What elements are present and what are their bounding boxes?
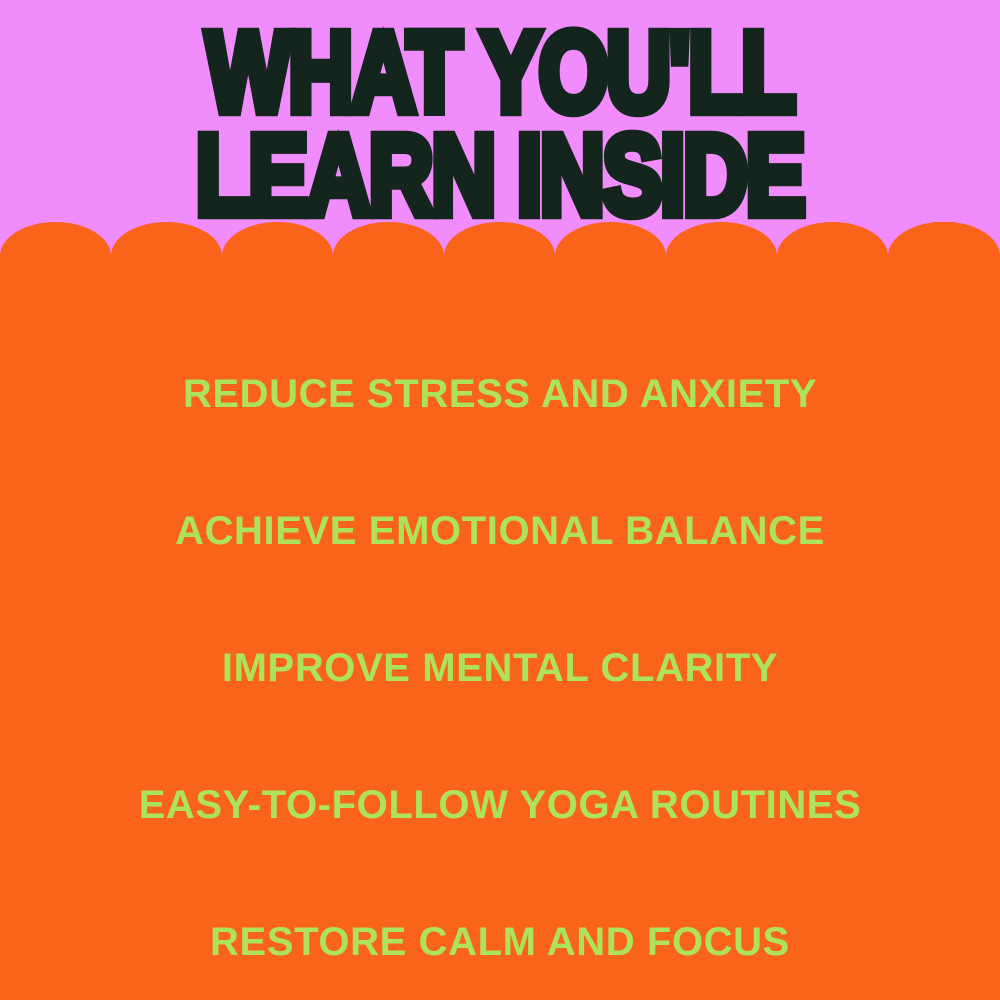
benefit-item-5: RESTORE CALM AND FOCUS xyxy=(0,874,1000,1000)
heading-line-2: LEARN INSIDE xyxy=(196,129,804,224)
benefit-item-4: EASY-TO-FOLLOW YOGA ROUTINES xyxy=(0,737,1000,874)
benefit-item-3: IMPROVE MENTAL CLARITY xyxy=(0,600,1000,737)
heading-line-1: WHAT YOU'LL xyxy=(206,26,794,121)
benefit-item-2: ACHIEVE EMOTIONAL BALANCE xyxy=(0,463,1000,600)
header-section: WHAT YOU'LL LEARN INSIDE xyxy=(0,0,1000,228)
poster-canvas: WHAT YOU'LL LEARN INSIDE REDUCE STRESS A… xyxy=(0,0,1000,1000)
benefits-list: REDUCE STRESS AND ANXIETY ACHIEVE EMOTIO… xyxy=(0,300,1000,1000)
benefit-item-1: REDUCE STRESS AND ANXIETY xyxy=(0,326,1000,463)
